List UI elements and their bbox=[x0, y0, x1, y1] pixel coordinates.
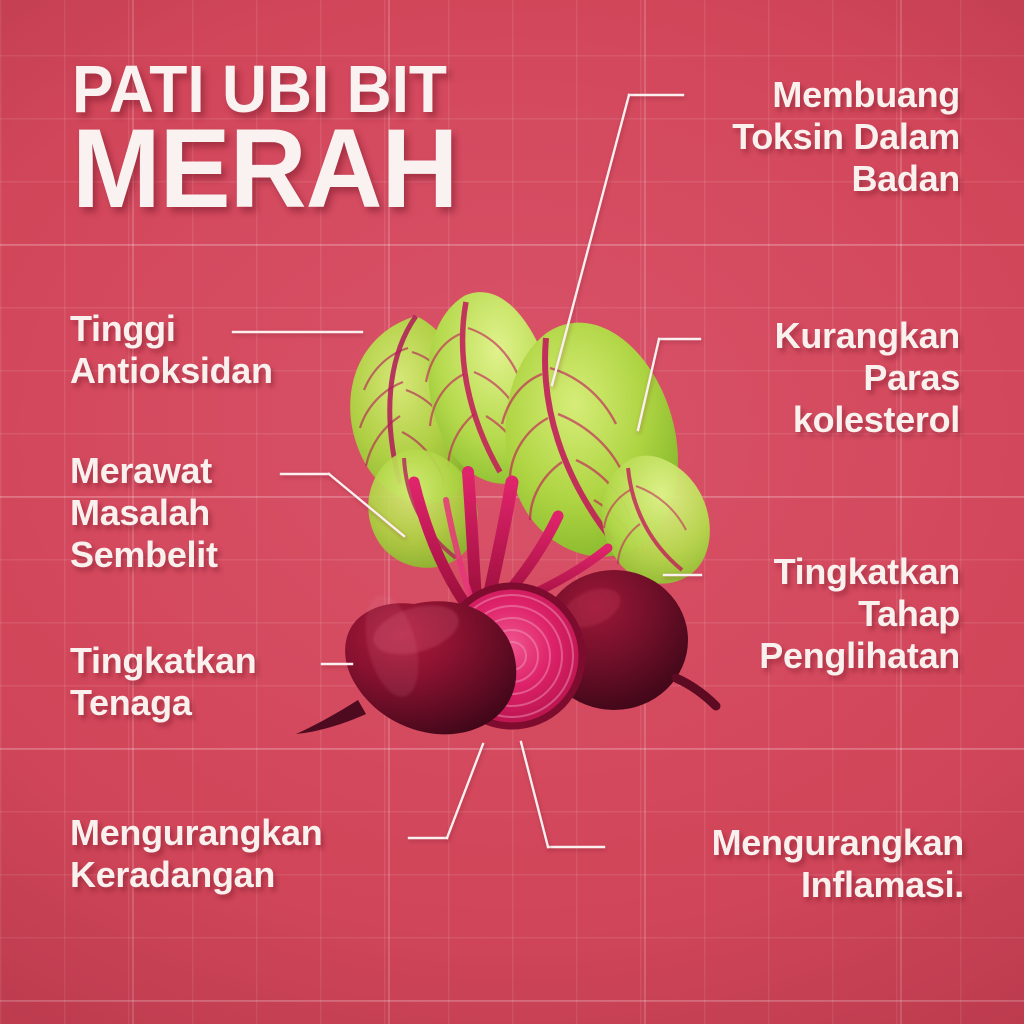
benefit-detox: Membuang Toksin Dalam Badan bbox=[660, 74, 960, 200]
benefit-cholesterol: Kurangkan Paras kolesterol bbox=[660, 315, 960, 441]
benefit-antioxidant: Tinggi Antioksidan bbox=[70, 308, 390, 392]
benefit-inflammation: Mengurangkan Inflamasi. bbox=[598, 822, 964, 906]
beet-leaves bbox=[350, 292, 710, 583]
benefit-vision: Tingkatkan Tahap Penglihatan bbox=[660, 551, 960, 677]
benefit-energy: Tingkatkan Tenaga bbox=[70, 640, 390, 724]
infographic-poster: PATI UBI BIT MERAH Membuang Toksin Dalam… bbox=[0, 0, 1024, 1024]
benefit-swelling: Mengurangkan Keradangan bbox=[70, 812, 470, 896]
title-line-2: MERAH bbox=[72, 122, 457, 216]
benefit-constipation: Merawat Masalah Sembelit bbox=[70, 450, 390, 576]
poster-title: PATI UBI BIT MERAH bbox=[72, 62, 478, 216]
